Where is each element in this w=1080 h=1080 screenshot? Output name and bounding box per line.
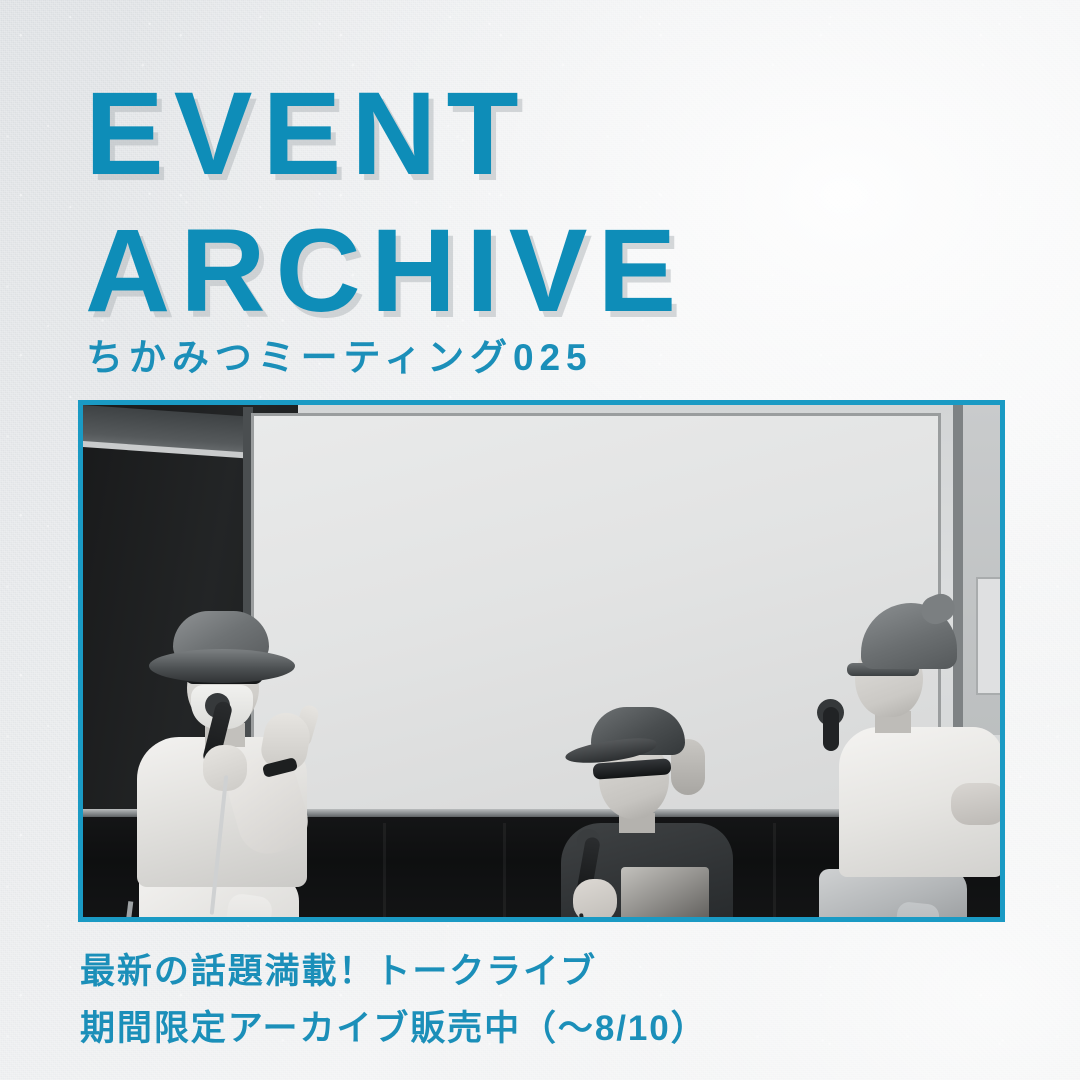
- photo-skirt-fold: [773, 823, 776, 917]
- photo-skirt-fold: [383, 823, 386, 917]
- caption-line-2: 期間限定アーカイブ販売中（〜8/10）: [80, 1001, 708, 1058]
- person-sleeve: [951, 783, 1000, 825]
- bucket-hat-brim: [149, 649, 295, 683]
- photo-person-left: [113, 605, 358, 917]
- headline-line-event: EVENT: [85, 78, 686, 191]
- photo-person-center: [543, 705, 773, 917]
- headline-line-archive: ARCHIVE: [85, 215, 686, 328]
- photo-person-right: [783, 603, 1000, 917]
- person-hand: [573, 879, 617, 917]
- microphone-body: [823, 707, 839, 751]
- page-title: EVENT ARCHIVE: [85, 78, 686, 329]
- photo-skirt-fold: [503, 823, 506, 917]
- event-photo-frame: [78, 400, 1005, 922]
- bottom-captions: 最新の話題満載！トークライブ 期間限定アーカイブ販売中（〜8/10）: [80, 944, 708, 1057]
- caption-line-1: 最新の話題満載！トークライブ: [80, 944, 708, 1001]
- tshirt-print: [621, 867, 709, 917]
- event-photo: [83, 405, 1000, 917]
- poster-canvas: EVENT ARCHIVE ちかみつミーティング025: [0, 0, 1080, 1080]
- stool-leg: [114, 901, 134, 917]
- event-subtitle: ちかみつミーティング025: [86, 327, 592, 381]
